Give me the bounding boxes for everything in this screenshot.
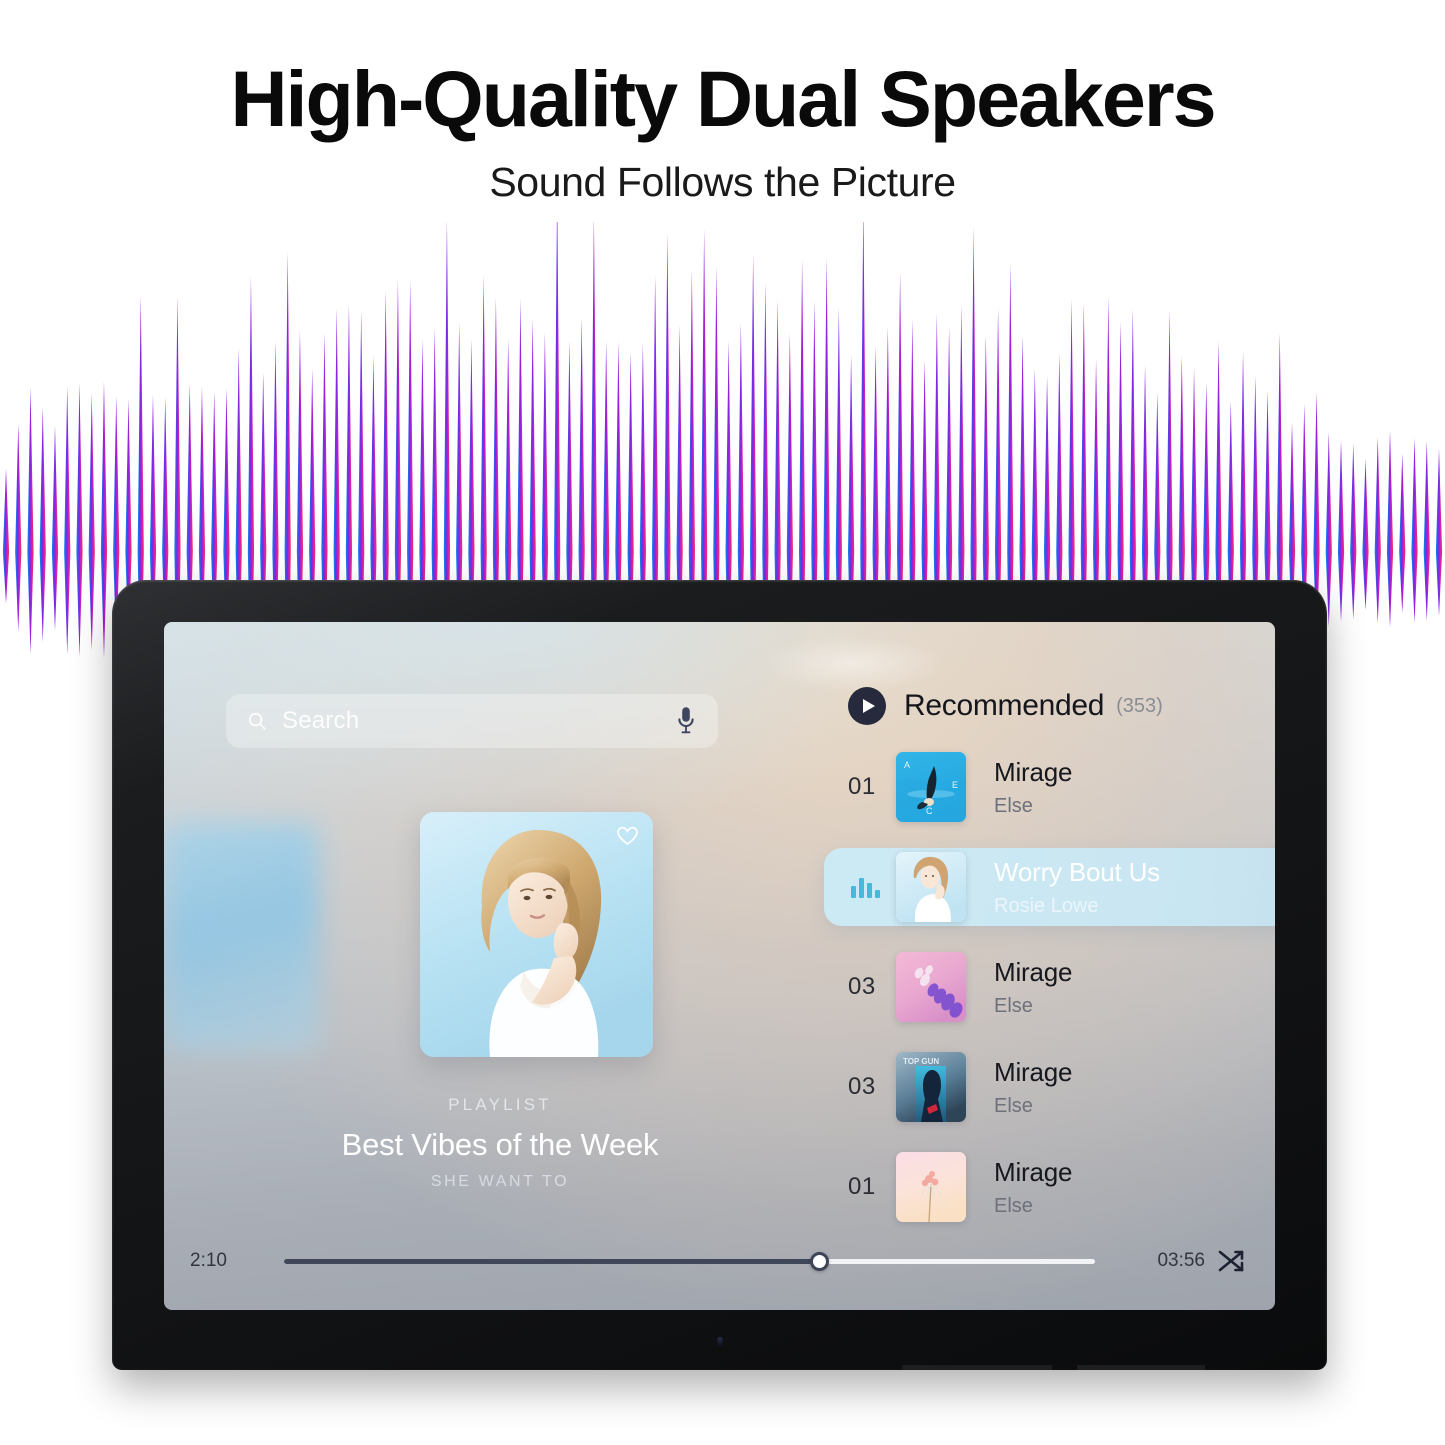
playlist-kicker: PLAYLIST <box>260 1095 740 1115</box>
device-foot-left <box>902 1365 1052 1370</box>
playlist-meta: PLAYLIST Best Vibes of the Week SHE WANT… <box>260 1095 740 1191</box>
recommended-title: Recommended <box>904 689 1104 723</box>
track-text: MirageElse <box>994 957 1072 1018</box>
track-row[interactable]: 03MirageElse <box>824 948 1275 1026</box>
tablet-screen: Search <box>164 622 1275 1310</box>
screen-specular-highlight <box>764 636 942 691</box>
headline-block: High-Quality Dual Speakers Sound Follows… <box>0 58 1445 206</box>
track-text: MirageElse <box>994 1157 1072 1218</box>
track-title: Mirage <box>994 757 1072 788</box>
playlist-subtitle: SHE WANT TO <box>260 1173 740 1191</box>
track-text: MirageElse <box>994 1057 1072 1118</box>
track-artist: Else <box>994 1195 1072 1218</box>
track-number: 03 <box>848 973 892 1001</box>
track-row[interactable]: 01AECMirageElse <box>824 748 1275 826</box>
device-foot-right <box>1077 1365 1205 1370</box>
track-number: 01 <box>848 1173 892 1201</box>
track-row[interactable]: Worry Bout UsRosie Lowe <box>824 848 1275 926</box>
search-placeholder-text: Search <box>282 707 359 735</box>
track-number: 03 <box>848 1073 892 1101</box>
svg-text:C: C <box>926 806 933 816</box>
svg-text:TOP GUN: TOP GUN <box>903 1057 939 1066</box>
track-album-art[interactable]: TOP GUN <box>896 1052 966 1122</box>
track-title: Worry Bout Us <box>994 857 1160 888</box>
play-icon[interactable] <box>848 687 886 725</box>
recommended-panel: Recommended (353) 01AECMirageElseWorry B… <box>824 684 1275 1248</box>
track-text: MirageElse <box>994 757 1072 818</box>
track-album-art[interactable] <box>896 852 966 922</box>
track-album-art[interactable] <box>896 1152 966 1222</box>
track-artist: Rosie Lowe <box>994 895 1160 918</box>
player-bar: 2:10 03:56 <box>164 1238 1275 1284</box>
track-list: 01AECMirageElseWorry Bout UsRosie Lowe03… <box>824 748 1275 1226</box>
progress-fill <box>284 1259 819 1264</box>
track-row[interactable]: 03TOP GUNMirageElse <box>824 1048 1275 1126</box>
duration-time: 03:56 <box>1119 1250 1205 1272</box>
track-album-art[interactable] <box>896 952 966 1022</box>
elapsed-time: 2:10 <box>164 1250 260 1272</box>
track-album-art[interactable]: AEC <box>896 752 966 822</box>
recommended-header: Recommended (353) <box>824 684 1275 728</box>
track-title: Mirage <box>994 1157 1072 1188</box>
page-subtitle: Sound Follows the Picture <box>0 159 1445 206</box>
track-text: Worry Bout UsRosie Lowe <box>994 857 1160 918</box>
playlist-cover-art[interactable] <box>420 812 653 1057</box>
page-title: High-Quality Dual Speakers <box>0 58 1445 141</box>
equalizer-icon <box>848 876 892 898</box>
track-artist: Else <box>994 795 1072 818</box>
svg-text:E: E <box>952 780 958 790</box>
shuffle-icon[interactable] <box>1213 1243 1249 1279</box>
playlist-title: Best Vibes of the Week <box>260 1127 740 1163</box>
microphone-icon[interactable] <box>676 706 696 736</box>
track-artist: Else <box>994 995 1072 1018</box>
carousel-previous-card[interactable] <box>164 822 319 1052</box>
svg-text:A: A <box>904 760 910 770</box>
tablet-device: Search <box>112 580 1327 1370</box>
recommended-count: (353) <box>1116 695 1163 718</box>
track-artist: Else <box>994 1095 1072 1118</box>
track-row[interactable]: 01MirageElse <box>824 1148 1275 1226</box>
track-title: Mirage <box>994 957 1072 988</box>
product-feature-graphic: High-Quality Dual Speakers Sound Follows… <box>0 0 1445 1445</box>
progress-thumb[interactable] <box>810 1252 829 1271</box>
search-icon <box>246 710 268 732</box>
search-input[interactable]: Search <box>226 694 718 748</box>
track-number: 01 <box>848 773 892 801</box>
progress-slider[interactable] <box>284 1259 1095 1264</box>
heart-icon[interactable] <box>616 825 639 846</box>
track-title: Mirage <box>994 1057 1072 1088</box>
camera-dot <box>717 1337 722 1346</box>
